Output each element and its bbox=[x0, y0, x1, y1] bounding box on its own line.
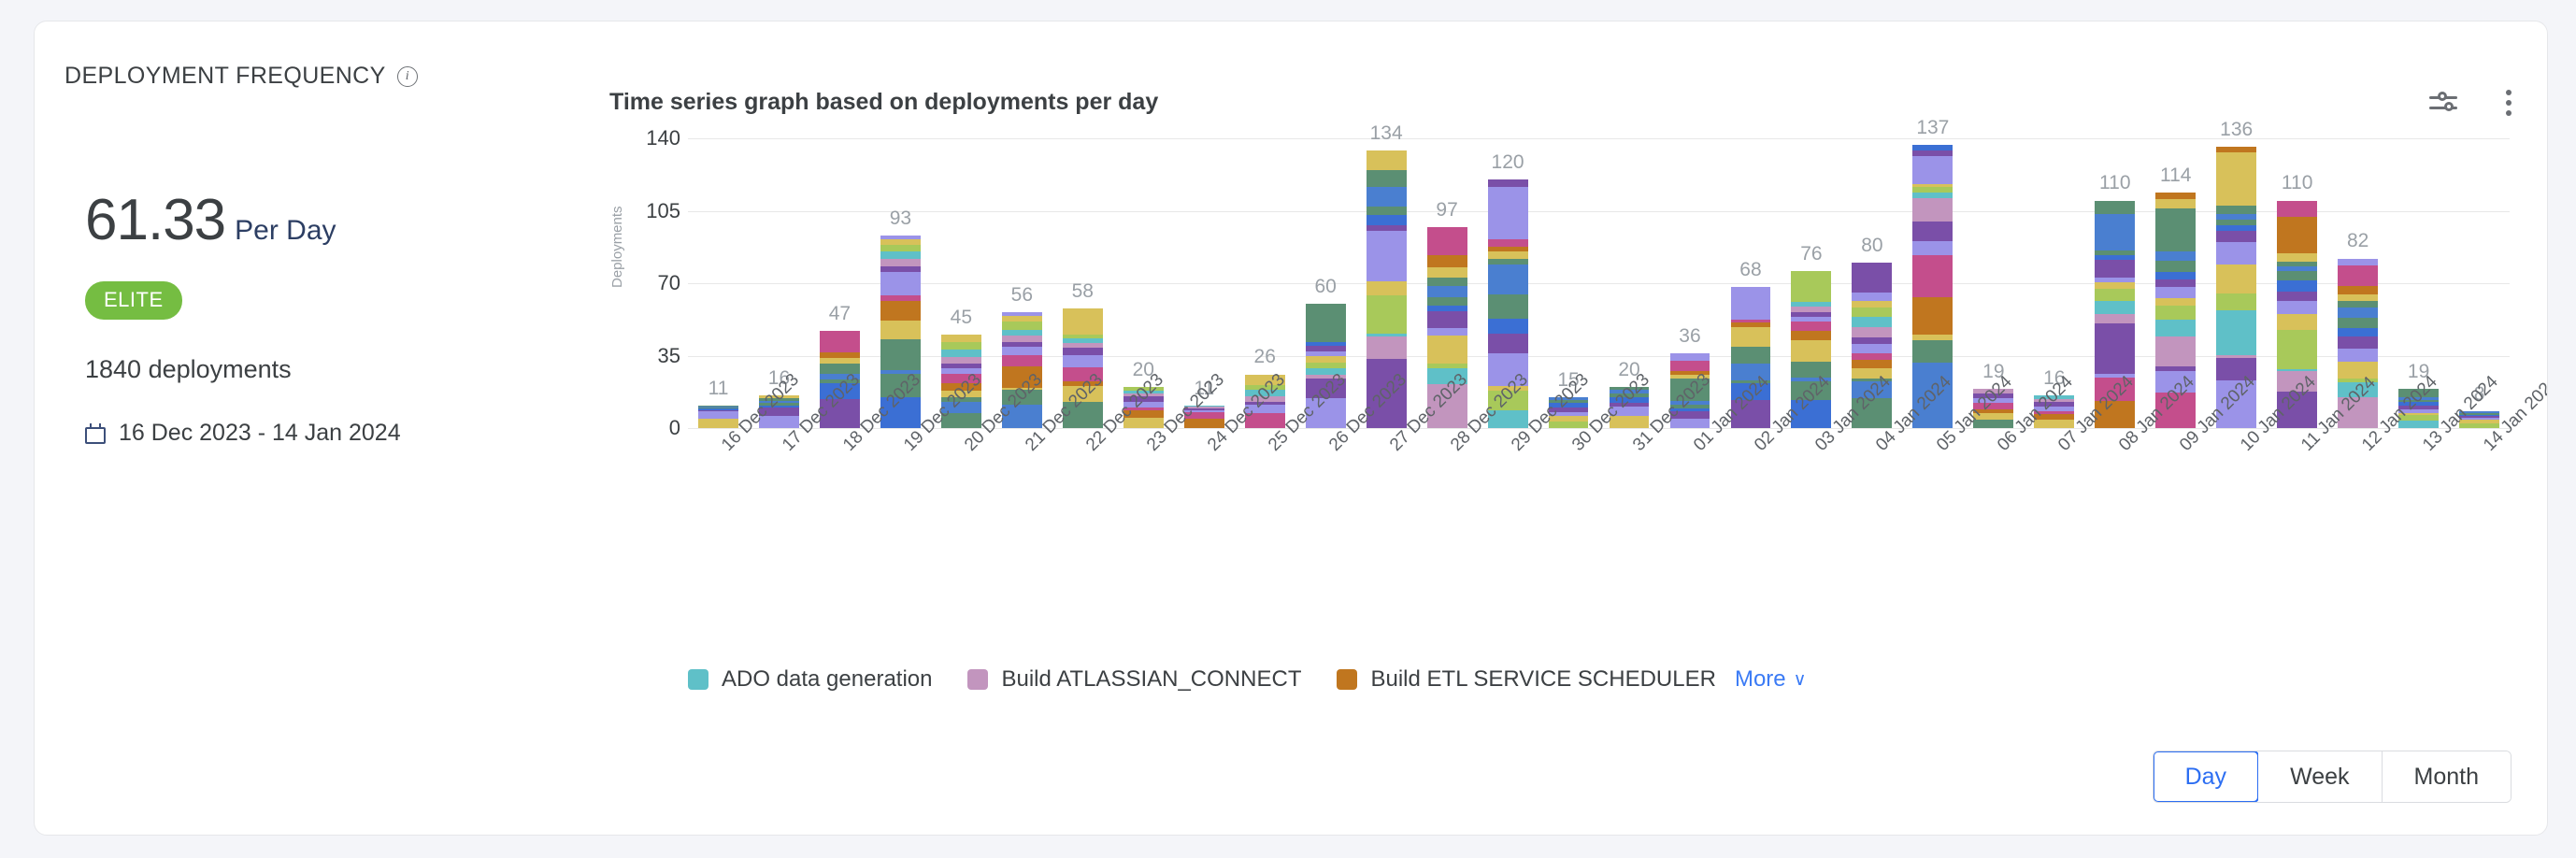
bar-value-label: 58 bbox=[1052, 280, 1113, 303]
bar-segment bbox=[2155, 272, 2196, 279]
bar-value-label: 120 bbox=[1478, 151, 1538, 174]
more-vertical-icon[interactable] bbox=[2506, 90, 2513, 116]
bar-segment bbox=[820, 364, 860, 373]
bar-segment bbox=[2095, 289, 2135, 300]
x-tick-cell: 22 Dec 2023 bbox=[1052, 434, 1113, 555]
x-tick-cell: 13 Jan 2024 bbox=[2388, 434, 2449, 555]
bar-segment bbox=[1367, 207, 1407, 215]
x-tick-cell: 29 Dec 2023 bbox=[1478, 434, 1538, 555]
x-tick-cell: 31 Dec 2023 bbox=[1599, 434, 1660, 555]
x-tick-cell: 08 Jan 2024 bbox=[2084, 434, 2145, 555]
bar-value-label: 97 bbox=[1417, 199, 1478, 222]
x-tick-cell: 18 Dec 2023 bbox=[809, 434, 870, 555]
x-tick-cell: 04 Jan 2024 bbox=[1841, 434, 1902, 555]
bar-segment bbox=[1427, 311, 1467, 327]
bar-segment bbox=[1852, 360, 1892, 368]
bar-segment bbox=[2338, 307, 2378, 318]
bar-value-label: 45 bbox=[931, 307, 992, 329]
legend-item[interactable]: Build ETL SERVICE SCHEDULER bbox=[1337, 666, 1715, 693]
bar-segment bbox=[698, 411, 738, 418]
bar-segment bbox=[1731, 347, 1771, 364]
x-tick-cell: 30 Dec 2023 bbox=[1538, 434, 1599, 555]
legend-label: Build ETL SERVICE SCHEDULER bbox=[1370, 666, 1715, 693]
sliders-icon[interactable] bbox=[2429, 91, 2457, 115]
bar-segment bbox=[2155, 193, 2196, 200]
bar-segment bbox=[2277, 271, 2317, 280]
bar-segment bbox=[2277, 330, 2317, 368]
bar-segment bbox=[1912, 222, 1953, 241]
legend-label: Build ATLASSIAN_CONNECT bbox=[1001, 666, 1301, 693]
bar-segment bbox=[1002, 347, 1042, 355]
x-tick-cell: 20 Dec 2023 bbox=[931, 434, 992, 555]
granularity-toggle: DayWeekMonth bbox=[2153, 751, 2512, 804]
chart-legend: ADO data generationBuild ATLASSIAN_CONNE… bbox=[688, 666, 1807, 693]
bar-value-label: 11 bbox=[688, 378, 749, 400]
bar-segment bbox=[2338, 259, 2378, 265]
bar-segment bbox=[2277, 314, 2317, 330]
kpi-panel: DEPLOYMENT FREQUENCY i 61.33 Per Day ELI… bbox=[35, 21, 581, 835]
bar-segment bbox=[1427, 255, 1467, 267]
bar-value-label: 134 bbox=[1356, 122, 1417, 145]
bar-segment bbox=[2095, 214, 2135, 250]
bar-segment bbox=[2095, 260, 2135, 278]
legend-more-link[interactable]: More∨ bbox=[1735, 666, 1807, 693]
bar-segment bbox=[2095, 201, 2135, 215]
bar-segment bbox=[1852, 344, 1892, 354]
bar-segment bbox=[1367, 231, 1407, 280]
bar-segment bbox=[1731, 327, 1771, 347]
bar-segment bbox=[1367, 215, 1407, 226]
bar-segment bbox=[1427, 328, 1467, 336]
bar-segment bbox=[1731, 287, 1771, 320]
bar-segment bbox=[1063, 348, 1103, 355]
bar-segment bbox=[1063, 355, 1103, 367]
bar-value-label: 136 bbox=[2206, 119, 2267, 141]
y-tick-label: 0 bbox=[669, 416, 680, 440]
bar-segment bbox=[1791, 331, 1831, 340]
kpi-unit: Per Day bbox=[235, 215, 336, 247]
bar-segment bbox=[1306, 304, 1346, 342]
bar-value-label: 114 bbox=[2145, 164, 2206, 187]
chart-panel: Time series graph based on deployments p… bbox=[581, 21, 2547, 835]
bar-segment bbox=[2155, 251, 2196, 261]
bar-segment bbox=[1427, 286, 1467, 298]
x-tick-cell: 12 Jan 2024 bbox=[2327, 434, 2388, 555]
bar-segment bbox=[1852, 317, 1892, 327]
bar-segment bbox=[1912, 198, 1953, 221]
bar-segment bbox=[2155, 298, 2196, 306]
bar-segment bbox=[1488, 334, 1528, 353]
bar-value-label: 80 bbox=[1841, 235, 1902, 257]
x-tick-cell: 27 Dec 2023 bbox=[1356, 434, 1417, 555]
bar-segment bbox=[2155, 336, 2196, 367]
kpi-title-row: DEPLOYMENT FREQUENCY i bbox=[64, 63, 581, 90]
bar-segment bbox=[1002, 355, 1042, 366]
x-tick-cell: 14 Jan 2024 bbox=[2449, 434, 2510, 555]
bar-segment bbox=[2338, 362, 2378, 379]
x-tick-cell: 06 Jan 2024 bbox=[1963, 434, 2024, 555]
x-tick-cell: 28 Dec 2023 bbox=[1417, 434, 1478, 555]
bar-segment bbox=[2155, 320, 2196, 336]
bar-segment bbox=[2155, 208, 2196, 250]
bar-segment bbox=[880, 301, 921, 321]
bar-value-label: 76 bbox=[1781, 243, 1841, 265]
bar-segment bbox=[2277, 292, 2317, 301]
legend-item[interactable]: Build ATLASSIAN_CONNECT bbox=[967, 666, 1301, 693]
bar-segment bbox=[941, 335, 981, 342]
x-tick-cell: 25 Dec 2023 bbox=[1235, 434, 1295, 555]
bar-segment bbox=[2338, 265, 2378, 286]
bar-segment bbox=[880, 272, 921, 295]
y-axis-tick-labels: 03570105140 bbox=[623, 138, 680, 428]
x-tick-cell: 05 Jan 2024 bbox=[1902, 434, 1963, 555]
x-tick-cell: 01 Jan 2024 bbox=[1660, 434, 1721, 555]
x-tick-cell: 03 Jan 2024 bbox=[1781, 434, 1841, 555]
date-range-row: 16 Dec 2023 - 14 Jan 2024 bbox=[85, 420, 581, 447]
bar-segment bbox=[2277, 301, 2317, 315]
bar-segment bbox=[2216, 293, 2256, 310]
bar-segment bbox=[2338, 294, 2378, 301]
bar-value-label: 82 bbox=[2327, 230, 2388, 252]
legend-item[interactable]: ADO data generation bbox=[688, 666, 932, 693]
legend-more-label: More bbox=[1735, 666, 1786, 693]
bar-segment bbox=[1852, 307, 1892, 318]
bar-segment bbox=[1791, 271, 1831, 303]
bar-segment bbox=[2338, 349, 2378, 363]
bar-segment bbox=[1488, 294, 1528, 320]
bar-segment bbox=[1488, 187, 1528, 239]
bar-segment bbox=[2216, 206, 2256, 214]
bar-segment bbox=[1427, 297, 1467, 306]
bar-segment bbox=[2155, 199, 2196, 208]
bar-segment bbox=[2216, 265, 2256, 293]
chart-title: Time series graph based on deployments p… bbox=[609, 89, 1158, 116]
bar-value-label: 26 bbox=[1235, 346, 1295, 368]
bar-segment bbox=[2277, 280, 2317, 292]
bar-value-label: 68 bbox=[1720, 259, 1781, 281]
x-tick-cell: 24 Dec 2023 bbox=[1174, 434, 1235, 555]
bar-segment bbox=[1488, 251, 1528, 259]
bar-value-label: 110 bbox=[2267, 172, 2327, 194]
x-tick-cell: 11 Jan 2024 bbox=[2267, 434, 2327, 555]
bar-segment bbox=[1427, 336, 1467, 364]
bar-segment bbox=[880, 339, 921, 370]
bar-segment bbox=[941, 342, 981, 350]
x-tick-cell: 09 Jan 2024 bbox=[2145, 434, 2206, 555]
bar-stack bbox=[698, 406, 738, 428]
bar-segment bbox=[1427, 278, 1467, 286]
bar-segment bbox=[1912, 340, 1953, 363]
bar-value-label: 93 bbox=[870, 207, 931, 230]
bar-segment bbox=[2338, 286, 2378, 294]
bar-segment bbox=[1488, 319, 1528, 334]
bar-value-label: 20 bbox=[1113, 359, 1174, 381]
bar-value-label: 137 bbox=[1902, 117, 1963, 139]
bar-segment bbox=[2216, 242, 2256, 265]
bar-segment bbox=[2338, 318, 2378, 328]
bar-segment bbox=[1367, 150, 1407, 170]
page-title: DEPLOYMENT FREQUENCY bbox=[64, 63, 386, 90]
bar-segment bbox=[880, 259, 921, 266]
bar-segment bbox=[1852, 327, 1892, 337]
bar-segment bbox=[1670, 361, 1710, 371]
legend-swatch bbox=[967, 669, 988, 690]
x-tick-cell: 23 Dec 2023 bbox=[1113, 434, 1174, 555]
chart-header-actions bbox=[2429, 90, 2513, 116]
plot-area: Deployments 03570105140 1116479345565820… bbox=[609, 138, 2510, 550]
y-tick-label: 35 bbox=[658, 344, 680, 368]
bar-segment bbox=[1852, 263, 1892, 293]
x-tick-cell: 10 Jan 2024 bbox=[2206, 434, 2267, 555]
status-badge: ELITE bbox=[85, 281, 182, 320]
bar-segment bbox=[2277, 201, 2317, 217]
bar-segment bbox=[2155, 306, 2196, 320]
legend-label: ADO data generation bbox=[722, 666, 932, 693]
bar-segment bbox=[880, 251, 921, 259]
bar-column[interactable]: 11 bbox=[688, 138, 749, 428]
bar-segment bbox=[1063, 308, 1103, 335]
bar-segment bbox=[1791, 340, 1831, 363]
kpi-value-row: 61.33 Per Day bbox=[85, 187, 581, 253]
bar-value-label: 47 bbox=[809, 303, 870, 325]
bar-segment bbox=[1488, 265, 1528, 294]
bar-segment bbox=[2155, 287, 2196, 299]
bar-segment bbox=[820, 331, 860, 352]
x-axis-tick-labels: 16 Dec 202317 Dec 202318 Dec 202319 Dec … bbox=[688, 434, 2510, 555]
bar-segment bbox=[1912, 297, 1953, 334]
bar-segment bbox=[1367, 295, 1407, 335]
bar-segment bbox=[2338, 336, 2378, 349]
bar-segment bbox=[880, 321, 921, 340]
bar-segment bbox=[2216, 152, 2256, 206]
bar-segment bbox=[2277, 253, 2317, 263]
bar-segment bbox=[2155, 279, 2196, 287]
deployment-frequency-card: DEPLOYMENT FREQUENCY i 61.33 Per Day ELI… bbox=[34, 21, 2548, 836]
deployments-count: 1840 deployments bbox=[85, 355, 581, 384]
x-tick-cell: 26 Dec 2023 bbox=[1295, 434, 1356, 555]
granularity-option-day[interactable]: Day bbox=[2153, 751, 2259, 804]
bar-value-label: 56 bbox=[992, 284, 1052, 307]
info-icon[interactable]: i bbox=[397, 66, 418, 87]
bar-segment bbox=[1002, 336, 1042, 342]
bar-value-label: 110 bbox=[2084, 172, 2145, 194]
bar-segment bbox=[1852, 301, 1892, 307]
bar-segment bbox=[941, 357, 981, 364]
x-tick-cell: 16 Dec 2023 bbox=[688, 434, 749, 555]
bar-segment bbox=[1670, 353, 1710, 361]
y-tick-label: 105 bbox=[646, 199, 680, 223]
bar-segment bbox=[2277, 217, 2317, 253]
chart-header: Time series graph based on deployments p… bbox=[609, 89, 2513, 116]
granularity-option-month[interactable]: Month bbox=[2383, 751, 2511, 803]
bar-segment bbox=[1002, 322, 1042, 330]
chevron-down-icon: ∨ bbox=[1794, 669, 1807, 691]
y-tick-label: 70 bbox=[658, 271, 680, 295]
x-tick-cell: 21 Dec 2023 bbox=[992, 434, 1052, 555]
y-tick-label: 140 bbox=[646, 126, 680, 150]
bar-value-label: 20 bbox=[1599, 359, 1660, 381]
bar-segment bbox=[2095, 301, 2135, 315]
bar-segment bbox=[2216, 231, 2256, 242]
bar-segment bbox=[2338, 301, 2378, 307]
bar-segment bbox=[1912, 255, 1953, 298]
bar-segment bbox=[1912, 241, 1953, 255]
x-tick-cell: 07 Jan 2024 bbox=[2024, 434, 2084, 555]
bar-segment bbox=[2155, 261, 2196, 273]
granularity-option-week[interactable]: Week bbox=[2258, 751, 2382, 803]
bar-segment bbox=[1427, 227, 1467, 255]
date-range-text: 16 Dec 2023 - 14 Jan 2024 bbox=[119, 420, 401, 447]
bar-segment bbox=[2338, 328, 2378, 336]
bar-segment bbox=[1427, 267, 1467, 278]
x-tick-cell: 19 Dec 2023 bbox=[870, 434, 931, 555]
bar-segment bbox=[1306, 356, 1346, 363]
bar-segment bbox=[941, 350, 981, 357]
legend-swatch bbox=[1337, 669, 1357, 690]
calendar-icon bbox=[85, 423, 106, 444]
bar-segment bbox=[1852, 293, 1892, 301]
bar-segment bbox=[1367, 336, 1407, 359]
bar-segment bbox=[1912, 156, 1953, 184]
bar-segment bbox=[1488, 239, 1528, 247]
bar-segment bbox=[2095, 282, 2135, 289]
bar-value-label: 60 bbox=[1295, 276, 1356, 298]
bar-segment bbox=[1488, 179, 1528, 187]
x-tick-cell: 17 Dec 2023 bbox=[749, 434, 809, 555]
bar-segment bbox=[1852, 353, 1892, 360]
bar-segment bbox=[2216, 310, 2256, 355]
bar-segment bbox=[1367, 187, 1407, 207]
bar-segment bbox=[2095, 323, 2135, 374]
bar-segment bbox=[1367, 281, 1407, 295]
bar-value-label: 36 bbox=[1660, 325, 1721, 348]
bar-segment bbox=[1791, 362, 1831, 378]
bar-segment bbox=[1306, 363, 1346, 369]
bar-segment bbox=[2095, 314, 2135, 323]
x-tick-cell: 02 Jan 2024 bbox=[1720, 434, 1781, 555]
bar-segment bbox=[1852, 337, 1892, 344]
bar-segment bbox=[1367, 170, 1407, 187]
legend-swatch bbox=[688, 669, 708, 690]
bar-segment bbox=[1791, 322, 1831, 331]
kpi-value: 61.33 bbox=[85, 187, 225, 253]
